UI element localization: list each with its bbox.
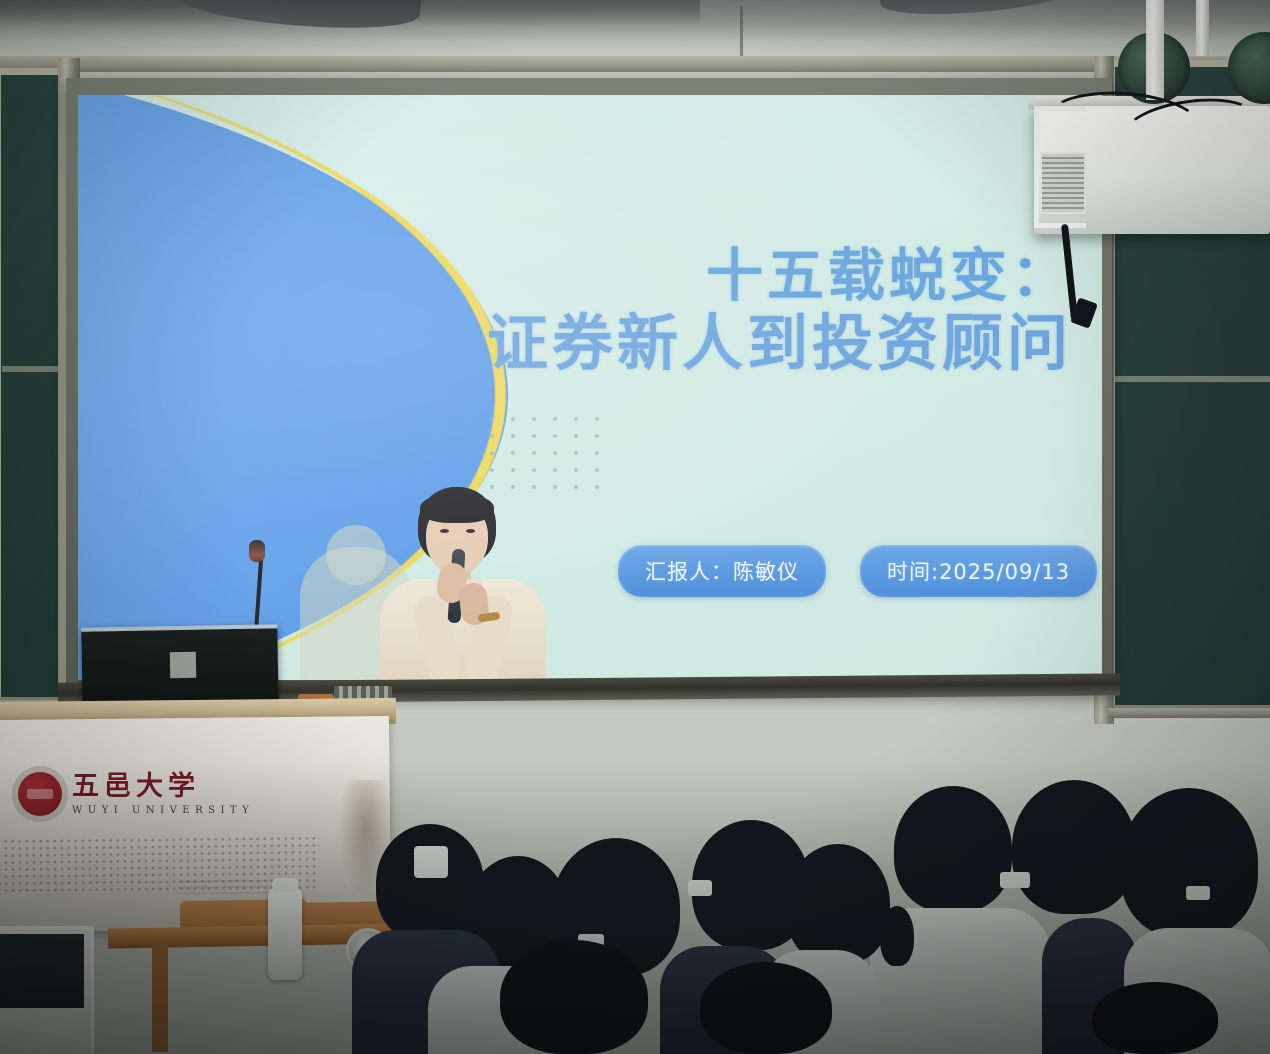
audience-head [1092,982,1218,1054]
lecture-hall-photo: 十五载蜕变： 证券新人到投资顾问 汇报人：陈敏仪 时间:2025/09/13 [0,0,1270,1054]
hair-clip [1000,872,1030,888]
chalk-tray-right [1108,708,1270,718]
projection-screen: 十五载蜕变： 证券新人到投资顾问 汇报人：陈敏仪 时间:2025/09/13 [78,95,1102,680]
ceiling-seam [740,6,743,62]
monitor-label-sticker [170,652,196,678]
slide-title-line2: 证券新人到投资顾问 [487,309,1072,380]
presenter-eye-left [440,529,449,533]
presenter-shadow-head [326,525,386,585]
date-pill: 时间:2025/09/13 [860,545,1097,597]
projector-ceiling-mount [1146,0,1164,100]
hair-clip [688,880,712,896]
university-name-en: WUYI UNIVERSITY [72,805,254,816]
microphone-head-icon [249,540,265,562]
equipment-cabinet-screen [0,934,84,1008]
audience-head [1120,788,1258,938]
audience-head-partial [880,906,914,966]
presentation-slide: 十五载蜕变： 证券新人到投资顾问 汇报人：陈敏仪 时间:2025/09/13 [78,95,1102,680]
blackboard-top-rail [0,56,1270,72]
university-name-cn: 五邑大学 [72,773,254,800]
water-bottle-cap [272,878,298,892]
audience-head [1012,780,1136,914]
presenter-hair-front [420,493,494,523]
audience-head [500,940,648,1054]
podium [0,716,391,932]
audience-head [700,962,832,1054]
slide-title: 十五载蜕变： 证券新人到投资顾问 [487,243,1072,380]
water-bottle [268,888,302,980]
university-logo: 五邑大学 WUYI UNIVERSITY [18,766,278,822]
desk-leg-1 [152,944,168,1052]
presenter-pill: 汇报人：陈敏仪 [618,545,826,597]
audience-head [786,844,890,964]
audience-head [894,786,1012,912]
slide-title-line1: 十五载蜕变： [487,243,1072,309]
presenter-eye-right [466,529,475,533]
hair-clip [414,846,448,878]
presenter-figure [366,487,566,680]
university-seal-icon [18,772,62,816]
hair-clip [1186,886,1210,900]
blackboard-right-divider [1112,376,1270,382]
slide-meta-pills: 汇报人：陈敏仪 时间:2025/09/13 [618,545,1097,597]
